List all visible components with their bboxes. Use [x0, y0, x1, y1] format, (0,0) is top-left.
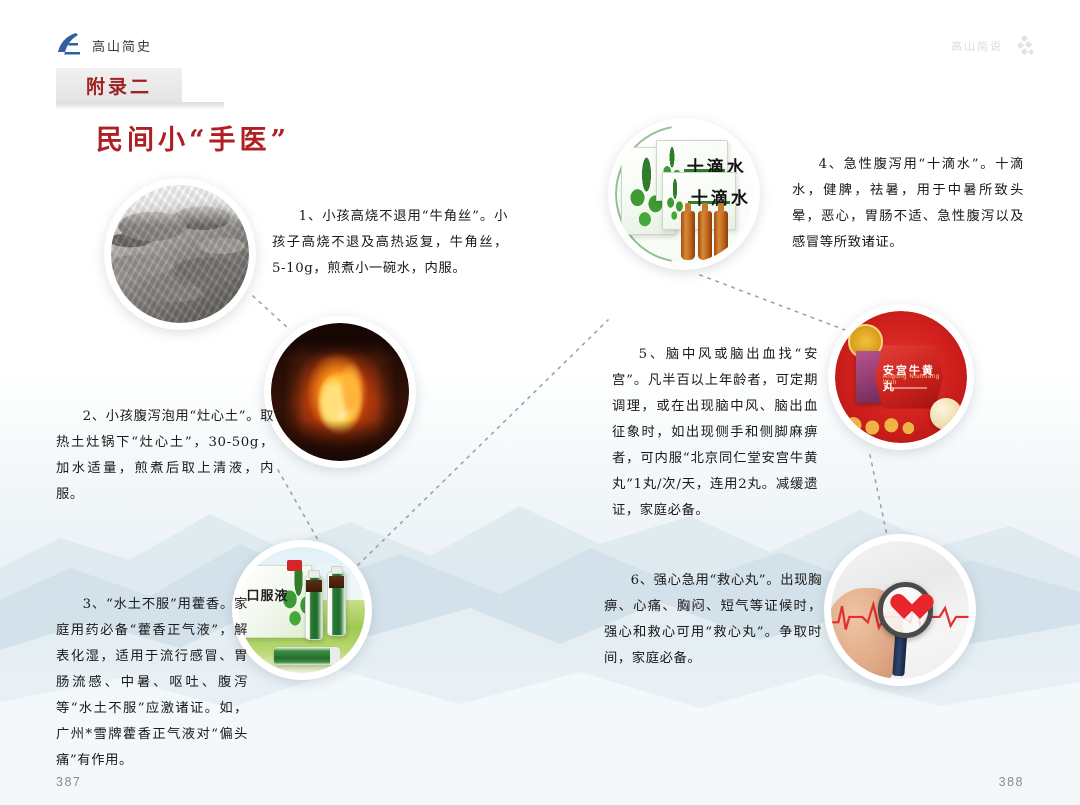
- entry-4-text: 4、急性腹泻用“十滴水”。十滴水，健脾，祛暑，用于中暑所致头晕，恶心，胃肠不适、…: [792, 152, 1024, 256]
- angong-product-name-pinyin: Angong Niuhuang Wan: [883, 374, 943, 386]
- heart-magnifier-ecg-photo: [831, 541, 969, 679]
- red-heart-icon: [891, 595, 921, 623]
- entry-5-text: 5、脑中风或脑出血找“安宫”。凡半百以上年龄者，可定期调理，或在出现脑中风、脑出…: [612, 342, 818, 523]
- angong-niuhuang-wan-photo: 安宫牛黄丸 Angong Niuhuang Wan: [835, 311, 967, 443]
- stove-fire-photo: [271, 323, 409, 461]
- gold-ornament-pattern: [840, 409, 935, 438]
- entry-4-image: 十滴水 十滴水: [608, 118, 760, 270]
- entry-5-image: 安宫牛黄丸 Angong Niuhuang Wan: [828, 304, 974, 450]
- entry-6-image: [824, 534, 976, 686]
- entry-3-text: 3、“水土不服”用藿香。家庭用药必备“藿香正气液”，解表化湿，适用于流行感冒、胃…: [56, 592, 248, 773]
- entry-1-image: [104, 178, 256, 330]
- connector-2-3: [278, 470, 318, 540]
- page-number-left: 387: [56, 775, 81, 789]
- page-number-right: 388: [999, 775, 1024, 789]
- entry-1-text: 1、小孩高烧不退用“牛角丝”。小孩子高烧不退及高热返复，牛角丝，5-10g，煎煮…: [272, 204, 508, 282]
- connector-5-6: [870, 455, 888, 540]
- huoxiang-oral-liquid-photo: 口服液: [239, 547, 365, 673]
- dried-horn-shavings-photo: [111, 185, 249, 323]
- entry-2-text: 2、小孩腹泻泡用“灶心土”。取热土灶锅下“灶心土”，30-50g，加水适量，煎煮…: [56, 404, 274, 508]
- book-page-spread: 高山简史 高山简说 附录二 民间小“手医”: [0, 0, 1080, 805]
- shidishui-boxes-photo: 十滴水 十滴水: [615, 125, 753, 263]
- entry-2-image: [264, 316, 416, 468]
- entry-6-text: 6、强心急用“救心丸”。出现胸痹、心痛、胸闷、短气等证候时，强心和救心可用“救心…: [604, 568, 822, 672]
- magnifier-icon: [878, 582, 933, 637]
- entry-3-image: 口服液: [232, 540, 372, 680]
- connector-4-5: [700, 275, 845, 330]
- oral-liquid-box-label: 口服液: [247, 585, 289, 604]
